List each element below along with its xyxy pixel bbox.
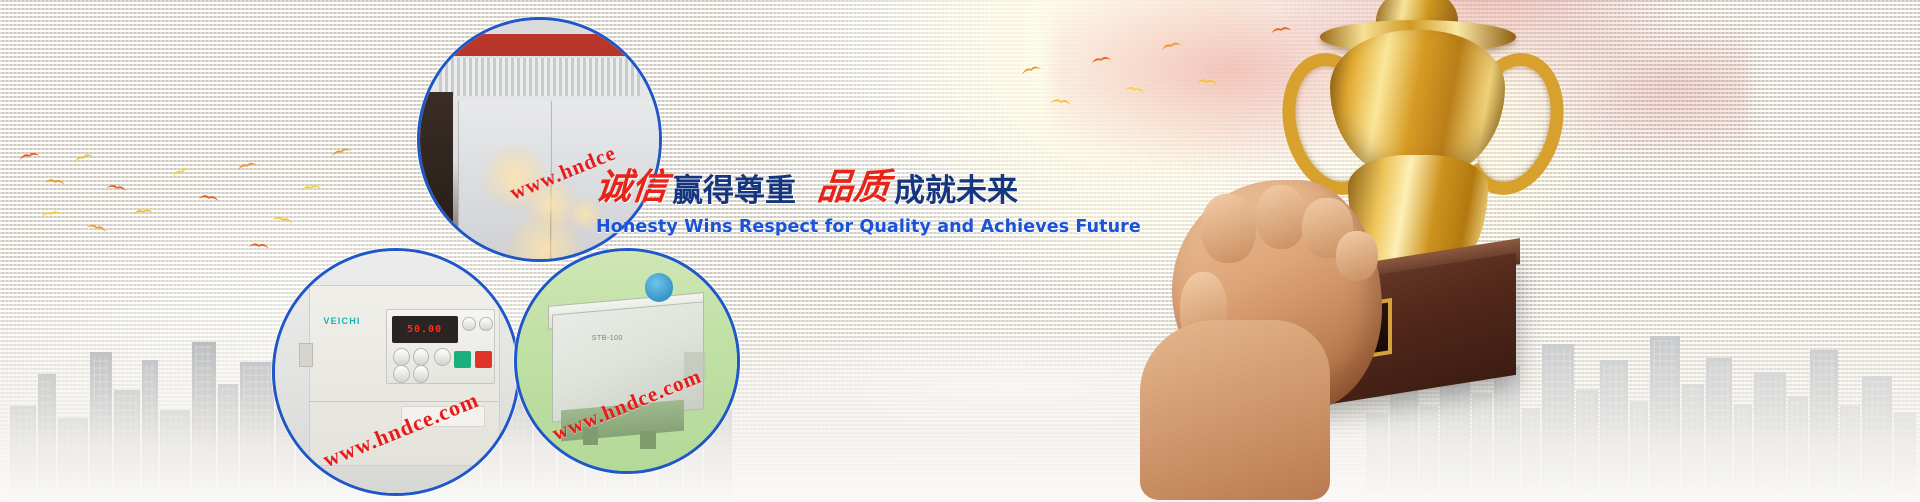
finger-pinky	[1336, 231, 1378, 282]
inverter-btn-shift	[393, 365, 410, 383]
slogan-part2-blue: 成就未来	[894, 165, 1018, 210]
slogan-block: 诚信 赢得尊重 品质 成就未来 Honesty Wins Respect for…	[596, 158, 1056, 237]
slogan-part1-blue: 赢得尊重	[672, 165, 796, 210]
control-box-photo[interactable]: STB-100 www.hndce.com	[514, 248, 740, 474]
inverter-side-clip	[299, 343, 313, 367]
inverter-btn-stop	[475, 351, 492, 368]
inverter-panel-seam	[309, 401, 498, 402]
finger-index	[1201, 194, 1256, 263]
slogan-main-line: 诚信 赢得尊重 品质 成就未来	[596, 158, 1056, 210]
inverter-led-display: 50.00	[392, 316, 458, 344]
control-box-foot-right	[640, 431, 655, 449]
inverter-spec-label	[401, 406, 485, 427]
control-box-sticker	[684, 352, 706, 378]
inverter-brand-label: VEICHI	[323, 316, 360, 326]
finger-middle	[1256, 185, 1306, 249]
inverter-keypad-panel: 50.00	[386, 309, 494, 384]
slogan-part1-red: 诚信	[593, 158, 670, 210]
cabinet-shadow-side	[420, 92, 453, 259]
cabinet-top-band	[420, 34, 659, 56]
veichi-inverter-photo[interactable]: VEICHI 50.00 www.hndce.com	[272, 248, 520, 496]
inverter-knob	[462, 317, 476, 331]
brand-badge-icon	[645, 273, 674, 302]
slogan-part2-red: 品质	[815, 158, 892, 210]
slogan-subtitle: Honesty Wins Respect for Quality and Ach…	[596, 217, 1056, 237]
forearm	[1140, 320, 1330, 500]
inverter-btn-run	[454, 351, 471, 368]
inverter-btn-up	[413, 348, 429, 366]
cabinet-vent-grille	[439, 58, 640, 96]
control-box-label: STB-100	[592, 335, 623, 342]
inverter-btn-down	[413, 365, 429, 383]
inverter-btn-menu	[393, 348, 410, 366]
inverter-image: VEICHI 50.00	[275, 251, 517, 493]
inverter-indicator	[479, 317, 493, 331]
control-box-foot-left	[583, 427, 598, 445]
inverter-btn-esc	[434, 348, 451, 366]
control-box-image: STB-100	[517, 251, 737, 471]
promo-banner: www.hndce VEICHI 50.00 www.hndce.com	[0, 0, 1920, 502]
gold-trophy: No. 1	[1180, 0, 1680, 502]
